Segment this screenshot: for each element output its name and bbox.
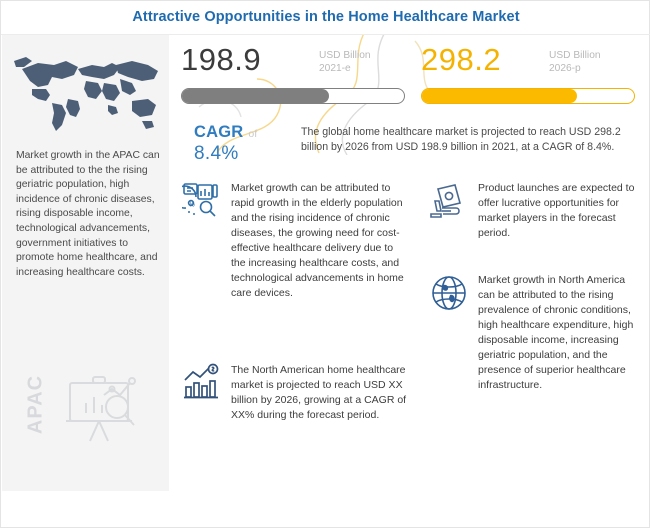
stat-unit-2021: USD Billion 2021-e: [319, 50, 371, 75]
cagr-value: 8.4%: [194, 143, 299, 165]
stat-year-2026: 2026-p: [549, 63, 601, 76]
progress-fill-2026: [422, 89, 577, 103]
insight-item-market-growth: % Market growth can be attributed to rap…: [182, 181, 414, 301]
insight-text-product-launches: Product launches are expected to offer l…: [478, 181, 638, 241]
progress-track-2026: [421, 88, 635, 104]
market-size-2026: 298.2 USD Billion 2026-p: [421, 43, 643, 76]
infographic-frame: Attractive Opportunities in the Home Hea…: [0, 0, 650, 528]
insight-item-product-launches: Product launches are expected to offer l…: [429, 181, 644, 241]
insight-text-market-growth: Market growth can be attributed to rapid…: [231, 181, 409, 301]
lead-paragraph: The global home healthcare market is pro…: [301, 125, 643, 155]
analytics-percent-magnifier-icon: %: [182, 181, 222, 221]
hand-holding-money-icon: [429, 181, 469, 221]
apac-side-panel: Market growth in the APAC can be attribu…: [2, 35, 169, 491]
page-title: Attractive Opportunities in the Home Hea…: [132, 9, 519, 25]
apac-region-label: APAC: [25, 367, 48, 443]
insight-text-north-america-size: The North American home healthcare marke…: [231, 363, 409, 423]
stat-unit-text-2026: USD Billion: [549, 50, 601, 63]
stat-unit-text-2021: USD Billion: [319, 50, 371, 63]
svg-text:%: %: [189, 202, 195, 209]
cagr-block: CAGR of 8.4%: [194, 123, 299, 165]
stat-year-2021: 2021-e: [319, 63, 371, 76]
cagr-label: CAGR: [194, 123, 243, 142]
bar-chart-growth-dollar-icon: [182, 363, 222, 403]
stat-value-2026: 298.2: [421, 43, 643, 76]
cagr-of-label: of: [248, 128, 257, 140]
progress-fill-2021: [182, 89, 329, 103]
presentation-chart-magnifier-icon: [60, 369, 148, 449]
stat-unit-2026: USD Billion 2026-p: [549, 50, 601, 75]
globe-icon: [429, 273, 469, 313]
progress-track-2021: [181, 88, 405, 104]
market-size-2021: 198.9 USD Billion 2021-e: [181, 43, 413, 76]
title-bar: Attractive Opportunities in the Home Hea…: [1, 1, 650, 33]
insight-text-north-america-growth: Market growth in North America can be at…: [478, 273, 638, 393]
stat-value-2021: 198.9: [181, 43, 413, 76]
world-map-icon: [8, 43, 166, 135]
insight-item-north-america-size: The North American home healthcare marke…: [182, 363, 414, 423]
apac-description: Market growth in the APAC can be attribu…: [16, 149, 164, 280]
insight-item-north-america-growth: Market growth in North America can be at…: [429, 273, 644, 393]
apac-watermark: APAC: [8, 365, 166, 465]
